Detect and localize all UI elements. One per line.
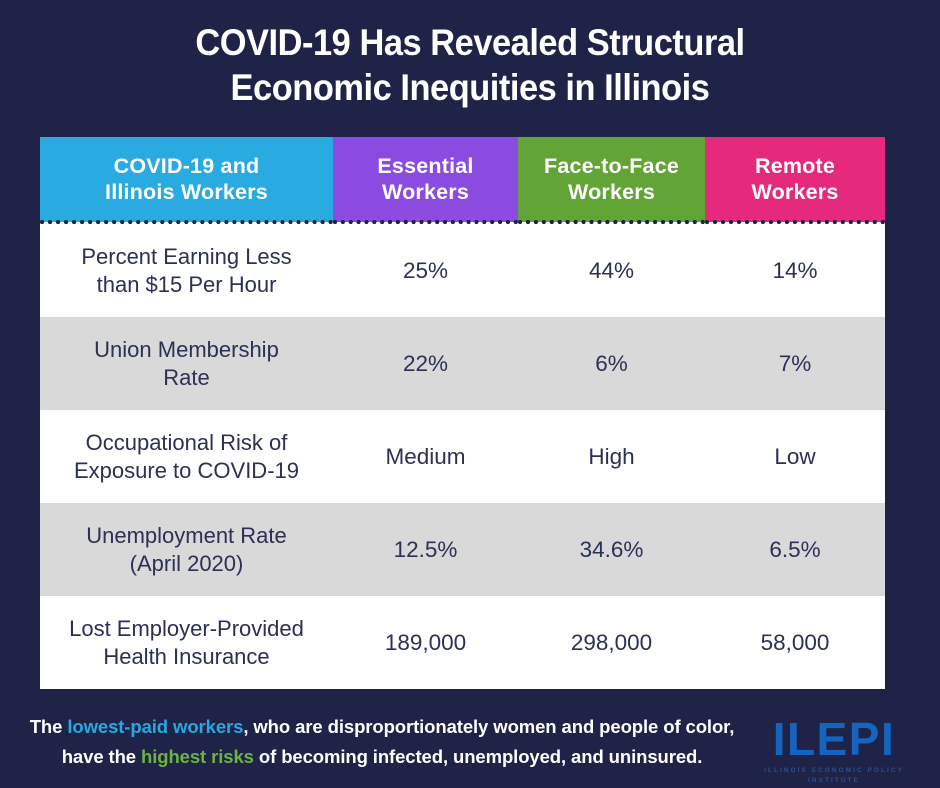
cell-union-essential: 22% <box>333 317 518 410</box>
cell-wage-essential: 25% <box>333 222 518 317</box>
comparison-table-wrapper: COVID-19 and Illinois Workers Essential … <box>40 137 885 689</box>
column-header-essential-line1: Essential <box>333 153 518 179</box>
row-label-risk: Occupational Risk of Exposure to COVID-1… <box>40 410 333 503</box>
column-header-essential-workers: Essential Workers <box>333 137 518 222</box>
column-header-category: COVID-19 and Illinois Workers <box>40 137 333 222</box>
cell-risk-face-to-face: High <box>518 410 705 503</box>
row-label-insurance: Lost Employer-Provided Health Insurance <box>40 596 333 689</box>
ilepi-logo-subtitle: ILLINOIS ECONOMIC POLICY INSTITUTE <box>748 766 920 786</box>
page-title: COVID-19 Has Revealed Structural Economi… <box>0 0 940 110</box>
cell-insurance-remote: 58,000 <box>705 596 885 689</box>
table-body: Percent Earning Less than $15 Per Hour 2… <box>40 222 885 689</box>
footer-caption: The lowest-paid workers, who are disprop… <box>26 708 748 772</box>
row-label-unemployment: Unemployment Rate (April 2020) <box>40 503 333 596</box>
cell-union-remote: 7% <box>705 317 885 410</box>
cell-unemployment-essential: 12.5% <box>333 503 518 596</box>
row-label-wage-line2: than $15 Per Hour <box>60 271 313 299</box>
row-label-insurance-line2: Health Insurance <box>60 643 313 671</box>
footer: The lowest-paid workers, who are disprop… <box>0 700 940 788</box>
column-header-remote-workers: Remote Workers <box>705 137 885 222</box>
cell-unemployment-face-to-face: 34.6% <box>518 503 705 596</box>
column-header-face-to-face-line1: Face-to-Face <box>518 153 705 179</box>
cell-wage-remote: 14% <box>705 222 885 317</box>
footer-part-3: of becoming infected, unemployed, and un… <box>254 746 702 767</box>
cell-unemployment-remote: 6.5% <box>705 503 885 596</box>
column-header-essential-line2: Workers <box>333 179 518 205</box>
table-row: Occupational Risk of Exposure to COVID-1… <box>40 410 885 503</box>
row-label-wage: Percent Earning Less than $15 Per Hour <box>40 222 333 317</box>
column-header-remote-line2: Workers <box>705 179 885 205</box>
cell-union-face-to-face: 6% <box>518 317 705 410</box>
table-row: Union Membership Rate 22% 6% 7% <box>40 317 885 410</box>
column-header-face-to-face-line2: Workers <box>518 179 705 205</box>
table-row: Percent Earning Less than $15 Per Hour 2… <box>40 222 885 317</box>
title-line-1: COVID-19 Has Revealed Structural <box>89 20 852 65</box>
table-row: Lost Employer-Provided Health Insurance … <box>40 596 885 689</box>
table-row: Unemployment Rate (April 2020) 12.5% 34.… <box>40 503 885 596</box>
table-header-row: COVID-19 and Illinois Workers Essential … <box>40 137 885 222</box>
cell-risk-remote: Low <box>705 410 885 503</box>
footer-part-1: The <box>30 716 68 737</box>
row-label-union-line1: Union Membership <box>60 336 313 364</box>
row-label-unemployment-line1: Unemployment Rate <box>60 522 313 550</box>
column-header-face-to-face-workers: Face-to-Face Workers <box>518 137 705 222</box>
footer-highlight-highest-risks: highest risks <box>141 746 254 767</box>
cell-risk-essential: Medium <box>333 410 518 503</box>
ilepi-logo-wordmark: ILEPI <box>748 714 920 764</box>
row-label-risk-line2: Exposure to COVID-19 <box>60 457 313 485</box>
ilepi-logo: ILEPI ILLINOIS ECONOMIC POLICY INSTITUTE <box>748 708 920 786</box>
column-header-category-line2: Illinois Workers <box>40 179 333 205</box>
row-label-unemployment-line2: (April 2020) <box>60 550 313 578</box>
row-label-risk-line1: Occupational Risk of <box>60 429 313 457</box>
infographic-root: COVID-19 Has Revealed Structural Economi… <box>0 0 940 788</box>
row-label-wage-line1: Percent Earning Less <box>60 243 313 271</box>
cell-insurance-essential: 189,000 <box>333 596 518 689</box>
cell-insurance-face-to-face: 298,000 <box>518 596 705 689</box>
comparison-table: COVID-19 and Illinois Workers Essential … <box>40 137 885 689</box>
row-label-union-line2: Rate <box>60 364 313 392</box>
cell-wage-face-to-face: 44% <box>518 222 705 317</box>
footer-highlight-lowest-paid: lowest-paid workers <box>67 716 243 737</box>
column-header-category-line1: COVID-19 and <box>40 153 333 179</box>
row-label-insurance-line1: Lost Employer-Provided <box>60 615 313 643</box>
column-header-remote-line1: Remote <box>705 153 885 179</box>
title-line-2: Economic Inequities in Illinois <box>89 65 852 110</box>
table-header: COVID-19 and Illinois Workers Essential … <box>40 137 885 222</box>
row-label-union: Union Membership Rate <box>40 317 333 410</box>
